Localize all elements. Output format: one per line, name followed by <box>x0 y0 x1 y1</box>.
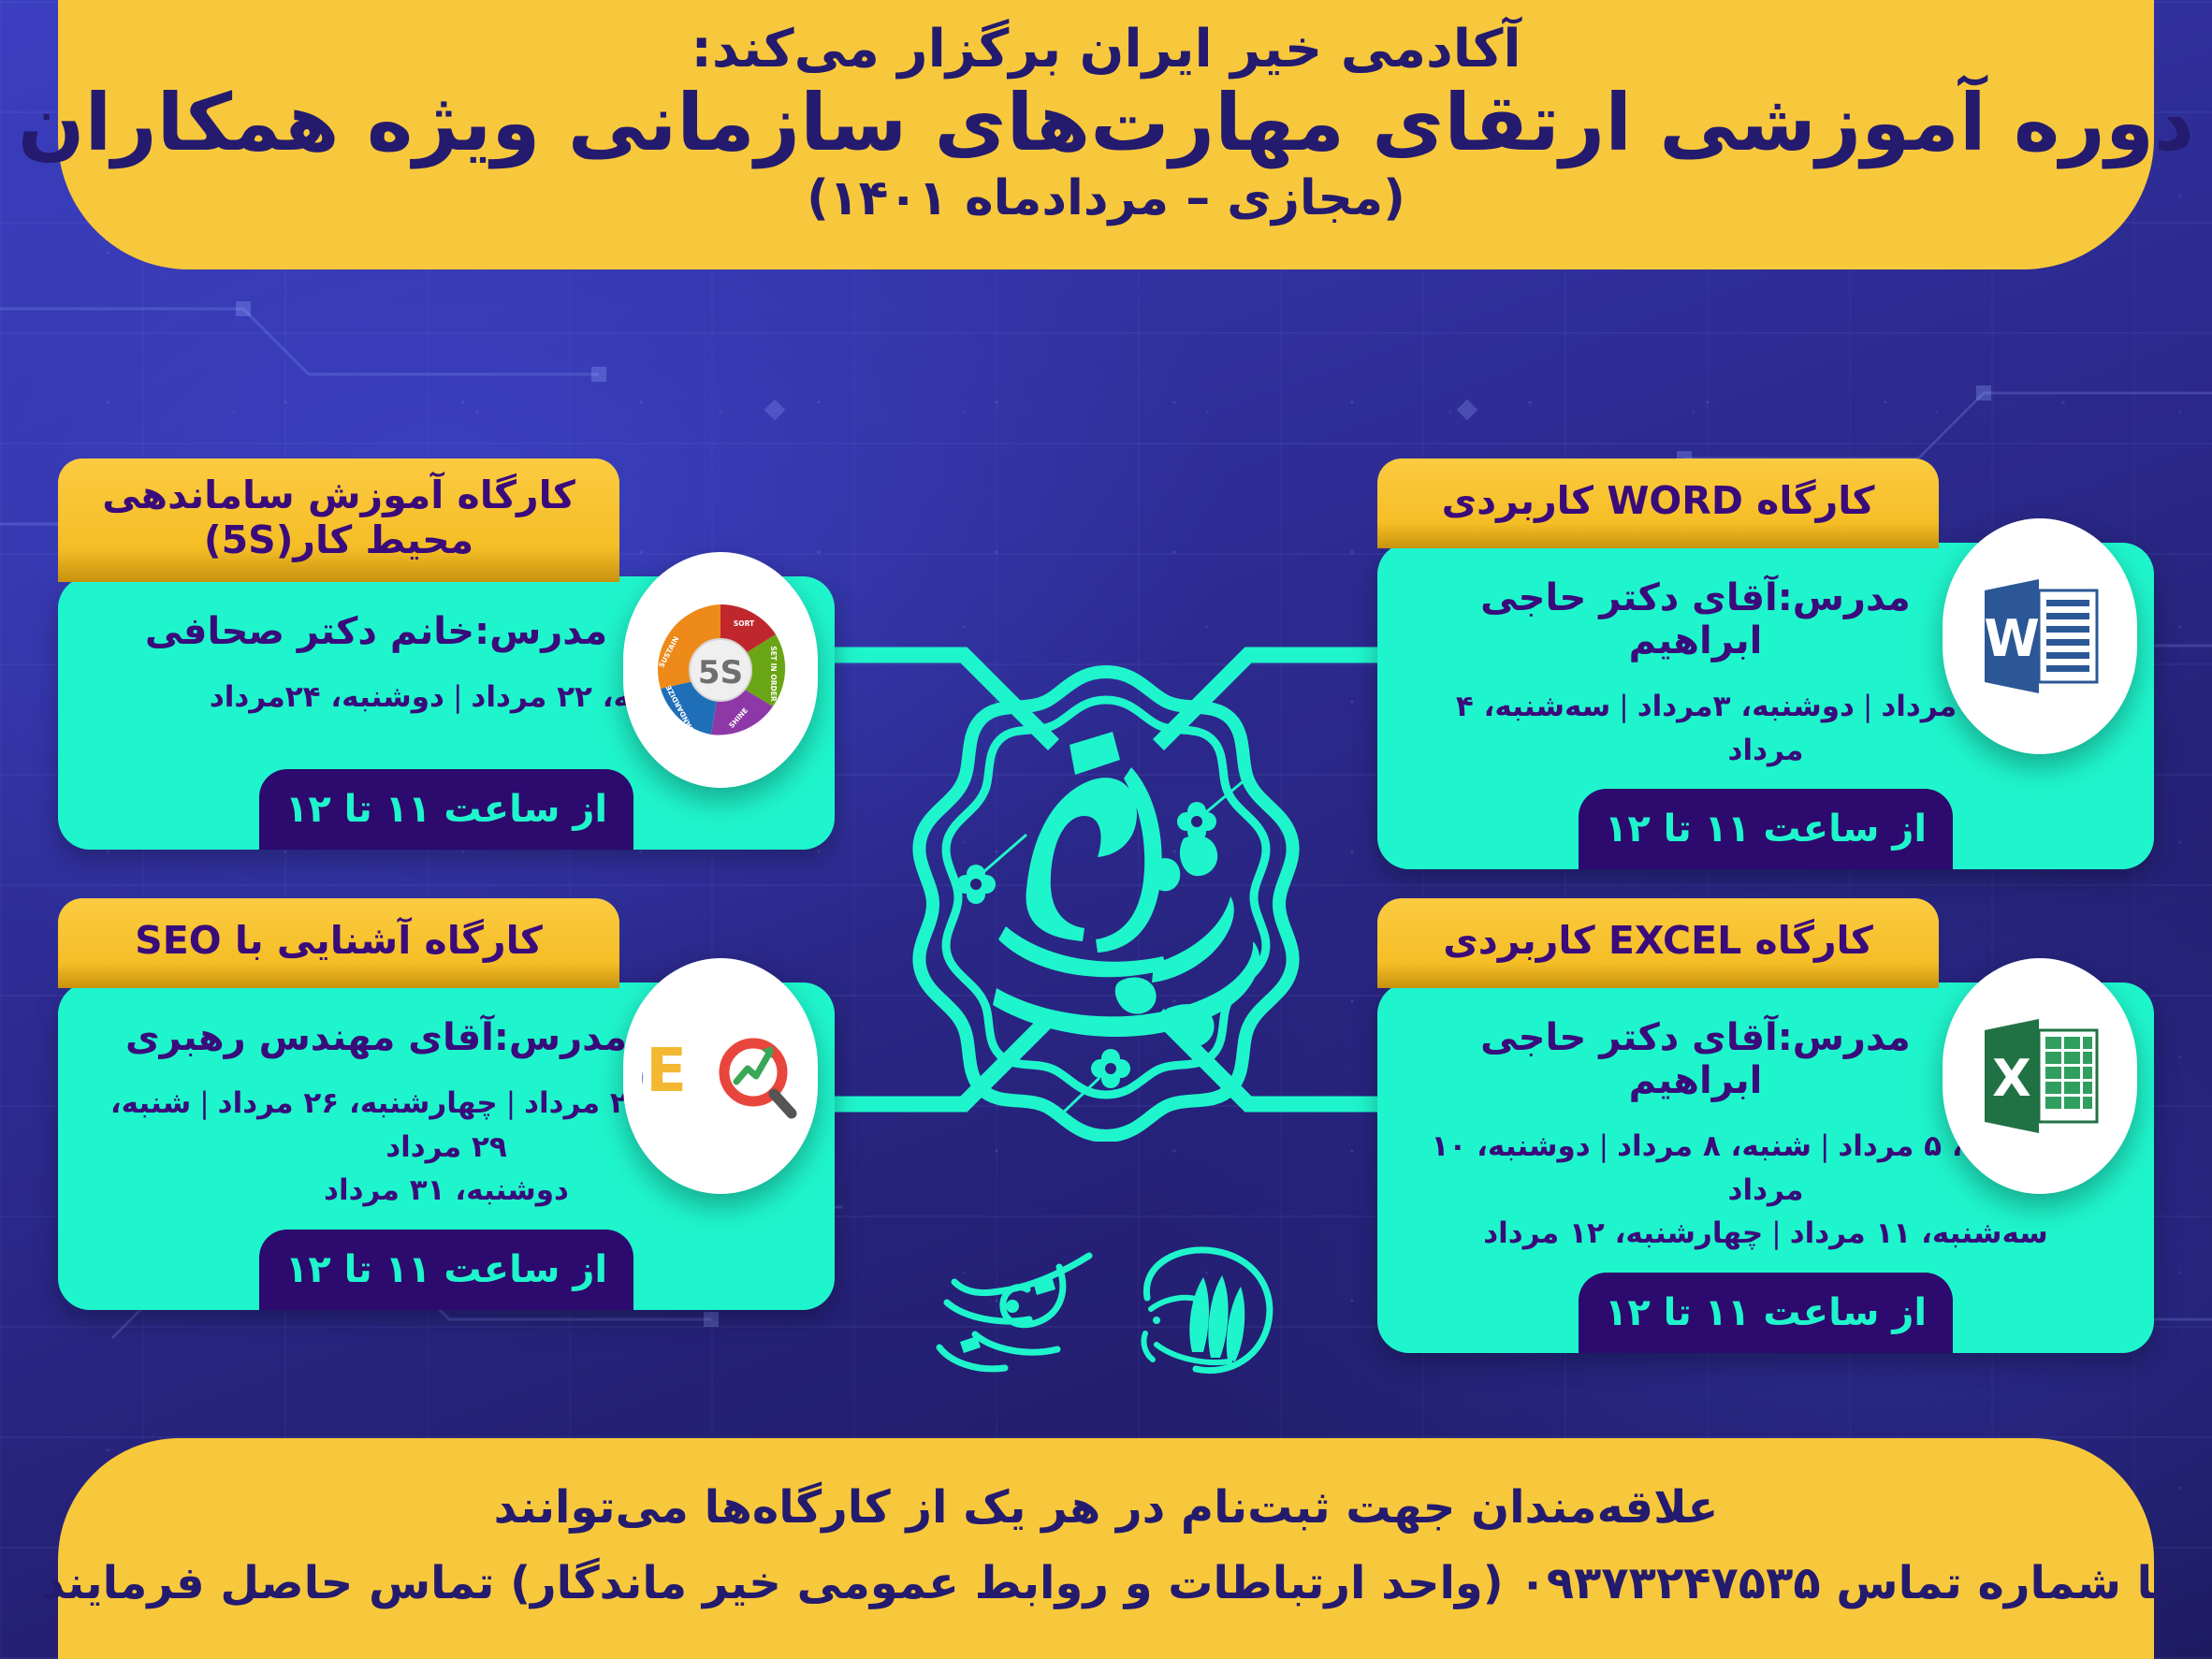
footer-banner: علاقه‌مندان جهت ثبت‌نام در هر یک از کارگ… <box>58 1438 2154 1659</box>
card-time-badge: از ساعت ۱۱ تا ۱۲ <box>1579 1273 1953 1353</box>
excel-letter: X <box>1992 1049 2031 1108</box>
workshop-card-excel[interactable]: کارگاه EXCEL کاربردی X مدرس:آقای <box>1377 898 2154 1353</box>
bonyad-shahid-logo-icon <box>1125 1240 1293 1390</box>
khayr-mandegar-logo-icon <box>919 1244 1097 1385</box>
card-title: کارگاه آموزش ساماندهی محیط کار(5S) <box>102 473 575 562</box>
five-s-center-label: 5S <box>698 654 743 691</box>
date-separator: | <box>1863 685 1872 729</box>
footer-line-2-contact: با شماره تماس ۰۹۳۷۳۲۴۷۵۳۵ (واحد ارتباطات… <box>41 1558 2170 1609</box>
date-item: چهارشنبه، ۱۲ مرداد <box>1483 1216 1763 1250</box>
word-letter: W <box>1984 609 2040 668</box>
seo-icon: S E <box>642 1020 799 1132</box>
date-separator: | <box>453 676 462 720</box>
workshop-card-5s[interactable]: کارگاه آموزش ساماندهی محیط کار(5S) 5S SO… <box>58 458 835 850</box>
microsoft-excel-icon: X <box>1966 1002 2114 1150</box>
footer-line-1: علاقه‌مندان جهت ثبت‌نام در هر یک از کارگ… <box>494 1482 1719 1534</box>
date-item: دوشنبه، ۳۱ مرداد <box>324 1173 569 1207</box>
workshop-card-seo[interactable]: کارگاه آشنایی با SEO S E مدرس:آقای مهندس… <box>58 898 835 1310</box>
date-item: دوشنبه، ۲۴مرداد <box>210 680 444 714</box>
microsoft-word-icon: W <box>1966 562 2114 710</box>
date-separator: | <box>1771 1212 1781 1256</box>
label-set-in-order: SET IN ORDER <box>769 646 778 701</box>
card-body: 5S SORT SET IN ORDER SHINE STANDARDIZE S… <box>58 578 835 850</box>
date-item: سه‌شنبه، ۱۱ مرداد <box>1790 1216 2048 1250</box>
card-body: W مدرس:آقای دکتر حاجی ابراهیم شنبه، ۱ مر… <box>1377 545 2154 869</box>
poster-root: آکادمی خیر ایران برگزار می‌کند: دوره آمو… <box>0 0 2212 1659</box>
card-title-tab: کارگاه WORD کاربردی <box>1377 458 1939 548</box>
magnifier-handle <box>774 1094 792 1113</box>
date-separator: | <box>199 1082 209 1126</box>
card-title-tab: کارگاه آشنایی با SEO <box>58 898 619 988</box>
date-item: دوشنبه، ۳مرداد <box>1637 690 1855 723</box>
date-separator: | <box>1820 1125 1829 1169</box>
icon-bubble: 5S SORT SET IN ORDER SHINE STANDARDIZE S… <box>623 552 818 788</box>
icon-bubble: X <box>1943 958 2137 1194</box>
card-title: کارگاه آشنایی با SEO <box>135 919 543 964</box>
icon-bubble: W <box>1943 518 2137 754</box>
card-title: کارگاه WORD کاربردی <box>1442 479 1875 524</box>
date-separator: | <box>506 1082 516 1126</box>
card-title-tab: کارگاه EXCEL کاربردی <box>1377 898 1939 988</box>
card-time-badge: از ساعت ۱۱ تا ۱۲ <box>259 1230 633 1310</box>
date-item: شنبه، ۸ مرداد <box>1617 1129 1812 1163</box>
workshop-card-word[interactable]: کارگاه WORD کاربردی W <box>1377 458 2154 869</box>
khayr-iran-emblem-icon <box>886 655 1326 1142</box>
header-pre-title: آکادمی خیر ایران برگزار می‌کند: <box>691 22 1521 78</box>
card-body: S E مدرس:آقای مهندس رهبری سه‌شنبه، ۲۵ مر… <box>58 984 835 1310</box>
seo-letter-e: E <box>646 1037 687 1106</box>
date-separator: | <box>1619 685 1628 729</box>
date-item: چهارشنبه، ۲۶ مرداد <box>218 1086 498 1120</box>
card-title-tab: کارگاه آموزش ساماندهی محیط کار(5S) <box>58 458 619 582</box>
card-title: کارگاه EXCEL کاربردی <box>1443 919 1873 964</box>
date-separator: | <box>1599 1125 1608 1169</box>
header-banner: آکادمی خیر ایران برگزار می‌کند: دوره آمو… <box>58 0 2154 269</box>
icon-bubble: S E <box>623 958 818 1194</box>
header-subtitle: (مجازی – مردادماه ۱۴۰۱) <box>807 170 1405 226</box>
card-time-badge: از ساعت ۱۱ تا ۱۲ <box>259 769 633 850</box>
growth-arrow-line <box>736 1052 770 1082</box>
card-body: X مدرس:آقای دکتر حاجی ابراهیم چهارشنبه، … <box>1377 984 2154 1353</box>
organization-logos <box>910 1230 1302 1399</box>
card-time-badge: از ساعت ۱۱ تا ۱۲ <box>1579 789 1953 869</box>
label-sort: SORT <box>734 619 755 628</box>
five-s-cycle-icon: 5S SORT SET IN ORDER SHINE STANDARDIZE S… <box>646 595 795 745</box>
center-emblem <box>886 655 1326 1142</box>
page-title: دوره آموزشی ارتقای مهارت‌های سازمانی ویژ… <box>18 81 2194 165</box>
